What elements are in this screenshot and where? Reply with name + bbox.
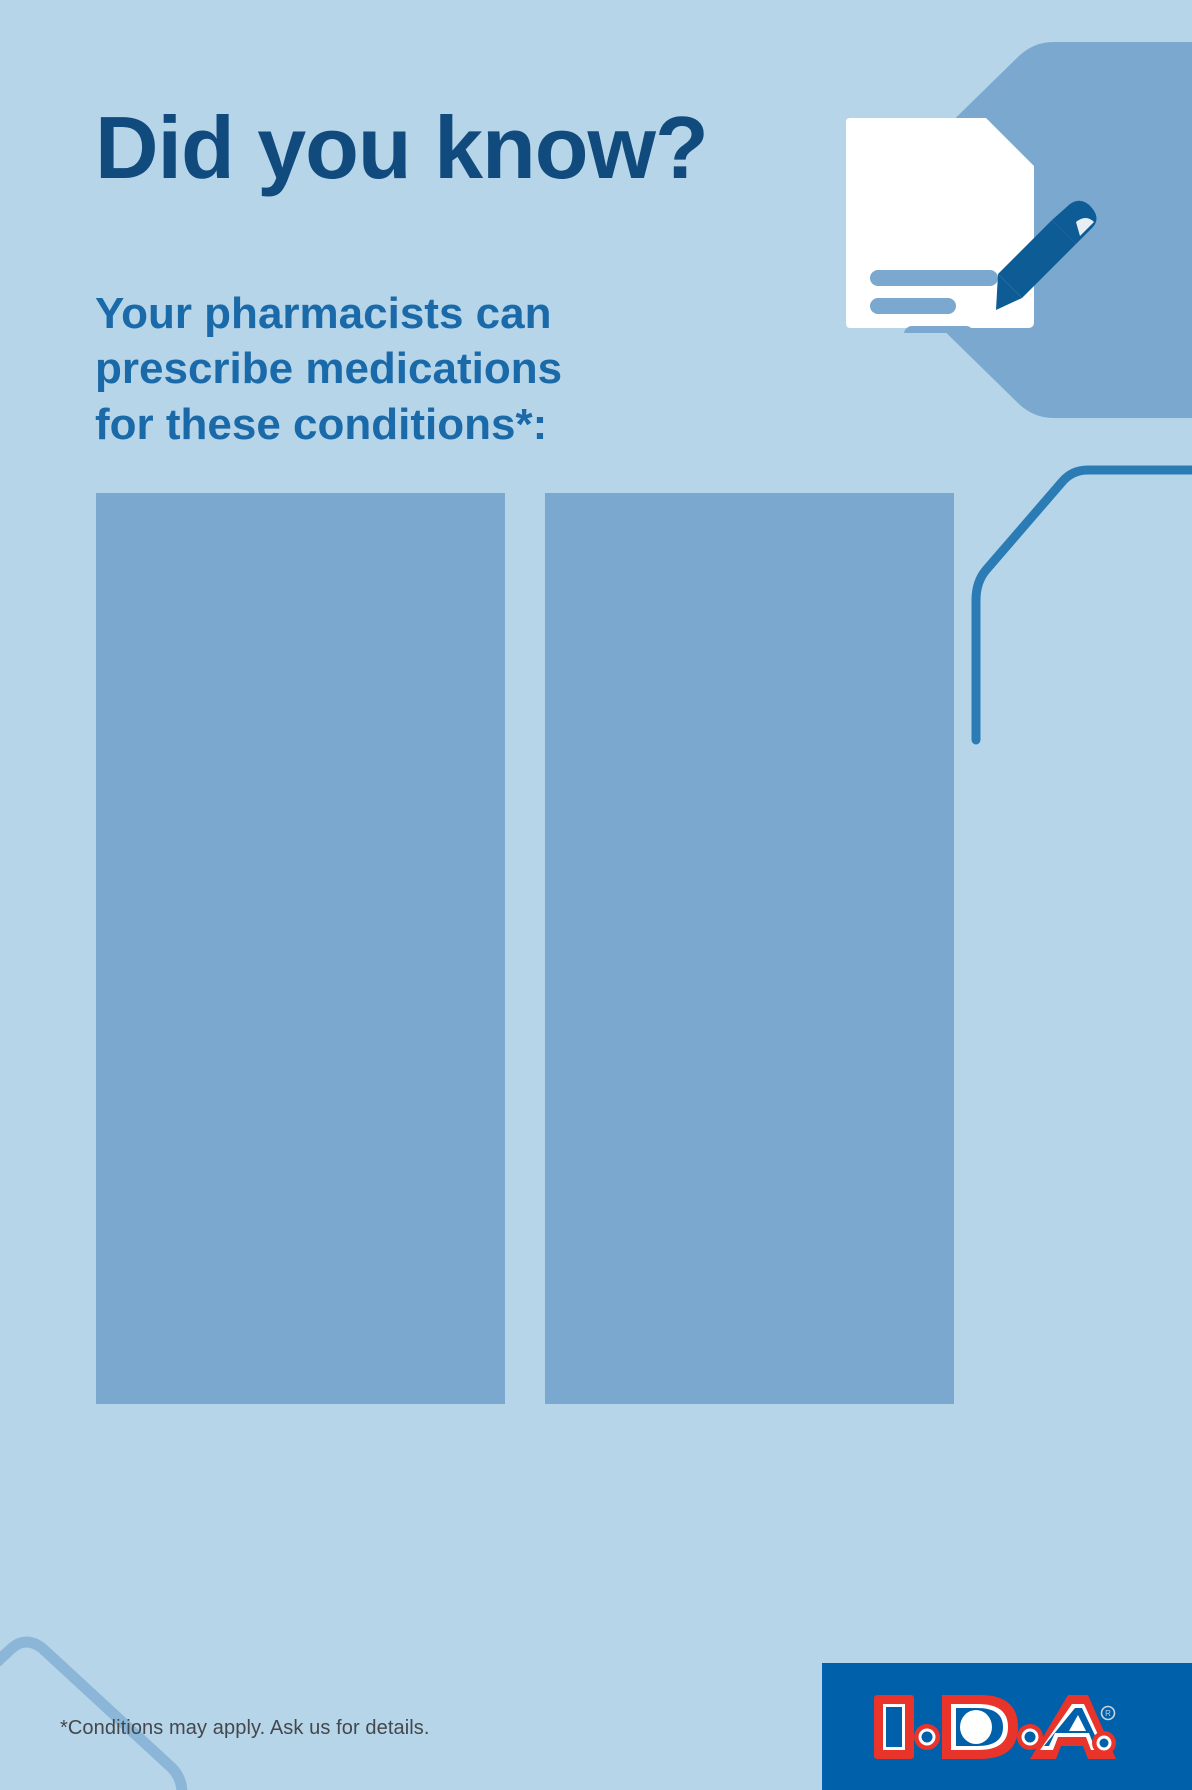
page-title: Did you know?: [95, 104, 708, 192]
subtitle-line-3: for these conditions*:: [95, 397, 562, 452]
svg-text:R: R: [1105, 1709, 1111, 1718]
subtitle-line-1: Your pharmacists can: [95, 286, 562, 341]
footnote-text: *Conditions may apply. Ask us for detail…: [60, 1717, 430, 1740]
page-subtitle: Your pharmacists can prescribe medicatio…: [95, 286, 562, 452]
document-line-2: [870, 298, 956, 314]
document-line-1: [870, 270, 998, 286]
hexagon-outline-bottom-left-shape: [0, 1620, 340, 1790]
pencil-icon: [996, 200, 1106, 320]
hexagon-outline-right-shape: [968, 440, 1192, 730]
subtitle-line-2: prescribe medications: [95, 341, 562, 396]
poster-canvas: Did you know? Your pharmacists can presc…: [0, 0, 1192, 1790]
ida-logo: R: [872, 1691, 1117, 1763]
document-signature-line: [904, 326, 974, 333]
conditions-column-right: [545, 493, 954, 1404]
ida-logo-block: R: [822, 1663, 1192, 1790]
conditions-column-left: [96, 493, 505, 1404]
